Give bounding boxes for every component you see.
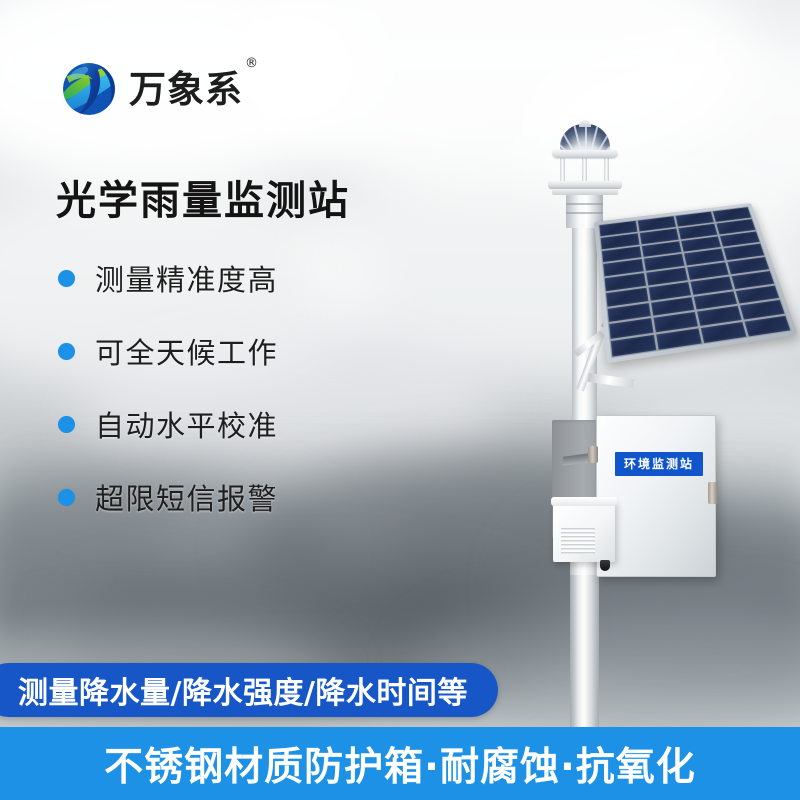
feature-item: 自动水平校准: [58, 404, 278, 444]
brand-name: 万象系 ®: [129, 71, 243, 108]
pill-banner: 测量降水量/降水强度/降水时间等: [0, 663, 498, 717]
dome-cap: [579, 120, 591, 127]
page-title: 光学雨量监测站: [56, 168, 350, 226]
blue-dot-icon: [58, 489, 75, 506]
bottom-bar: 不锈钢材质防护箱·耐腐蚀·抗氧化: [0, 727, 800, 800]
cabinet-latch: [708, 482, 717, 504]
sensor-skirt-lower: [552, 188, 618, 195]
bottom-bar-text: 不锈钢材质防护箱·耐腐蚀·抗氧化: [104, 736, 696, 792]
blue-dot-icon: [58, 270, 75, 287]
pill-banner-text: 测量降水量/降水强度/降水时间等: [18, 668, 468, 712]
feature-item: 超限短信报警: [58, 477, 278, 517]
promo-banner: 环境监测站: [0, 0, 800, 800]
sensor-neck-ring: [566, 203, 603, 205]
dome-ribs: [560, 124, 610, 150]
cabinet-hinge: [588, 446, 598, 463]
feature-label: 自动水平校准: [95, 403, 278, 445]
cable-gland: [600, 560, 610, 571]
sensor-support-post: [560, 157, 565, 181]
feature-label: 可全天候工作: [95, 330, 278, 372]
solar-cell-grid: [598, 206, 792, 358]
sensor-neck-ring: [566, 212, 603, 214]
solar-panel: [594, 203, 798, 363]
louver-grille: [561, 528, 595, 554]
mast-shading: [570, 575, 599, 735]
feature-item: 测量精准度高: [58, 258, 278, 298]
feature-item: 可全天候工作: [58, 331, 278, 371]
cabinet-label: 环境监测站: [615, 452, 703, 476]
blue-dot-icon: [58, 343, 75, 360]
brand-name-text: 万象系: [129, 68, 243, 111]
sensor-support-post: [604, 157, 609, 181]
feature-list: 测量精准度高 可全天候工作 自动水平校准 超限短信报警: [58, 258, 278, 550]
brand-logo: 万象系 ®: [58, 58, 243, 120]
globe-swirl-logo-icon: [58, 58, 120, 120]
feature-label: 超限短信报警: [95, 476, 278, 518]
feature-label: 测量精准度高: [95, 257, 278, 299]
registered-mark: ®: [245, 57, 259, 70]
blue-dot-icon: [58, 416, 75, 433]
cabinet-label-text: 环境监测站: [624, 457, 694, 471]
sensor-shield-lid: [551, 497, 617, 506]
sensor-support-post: [582, 157, 587, 181]
